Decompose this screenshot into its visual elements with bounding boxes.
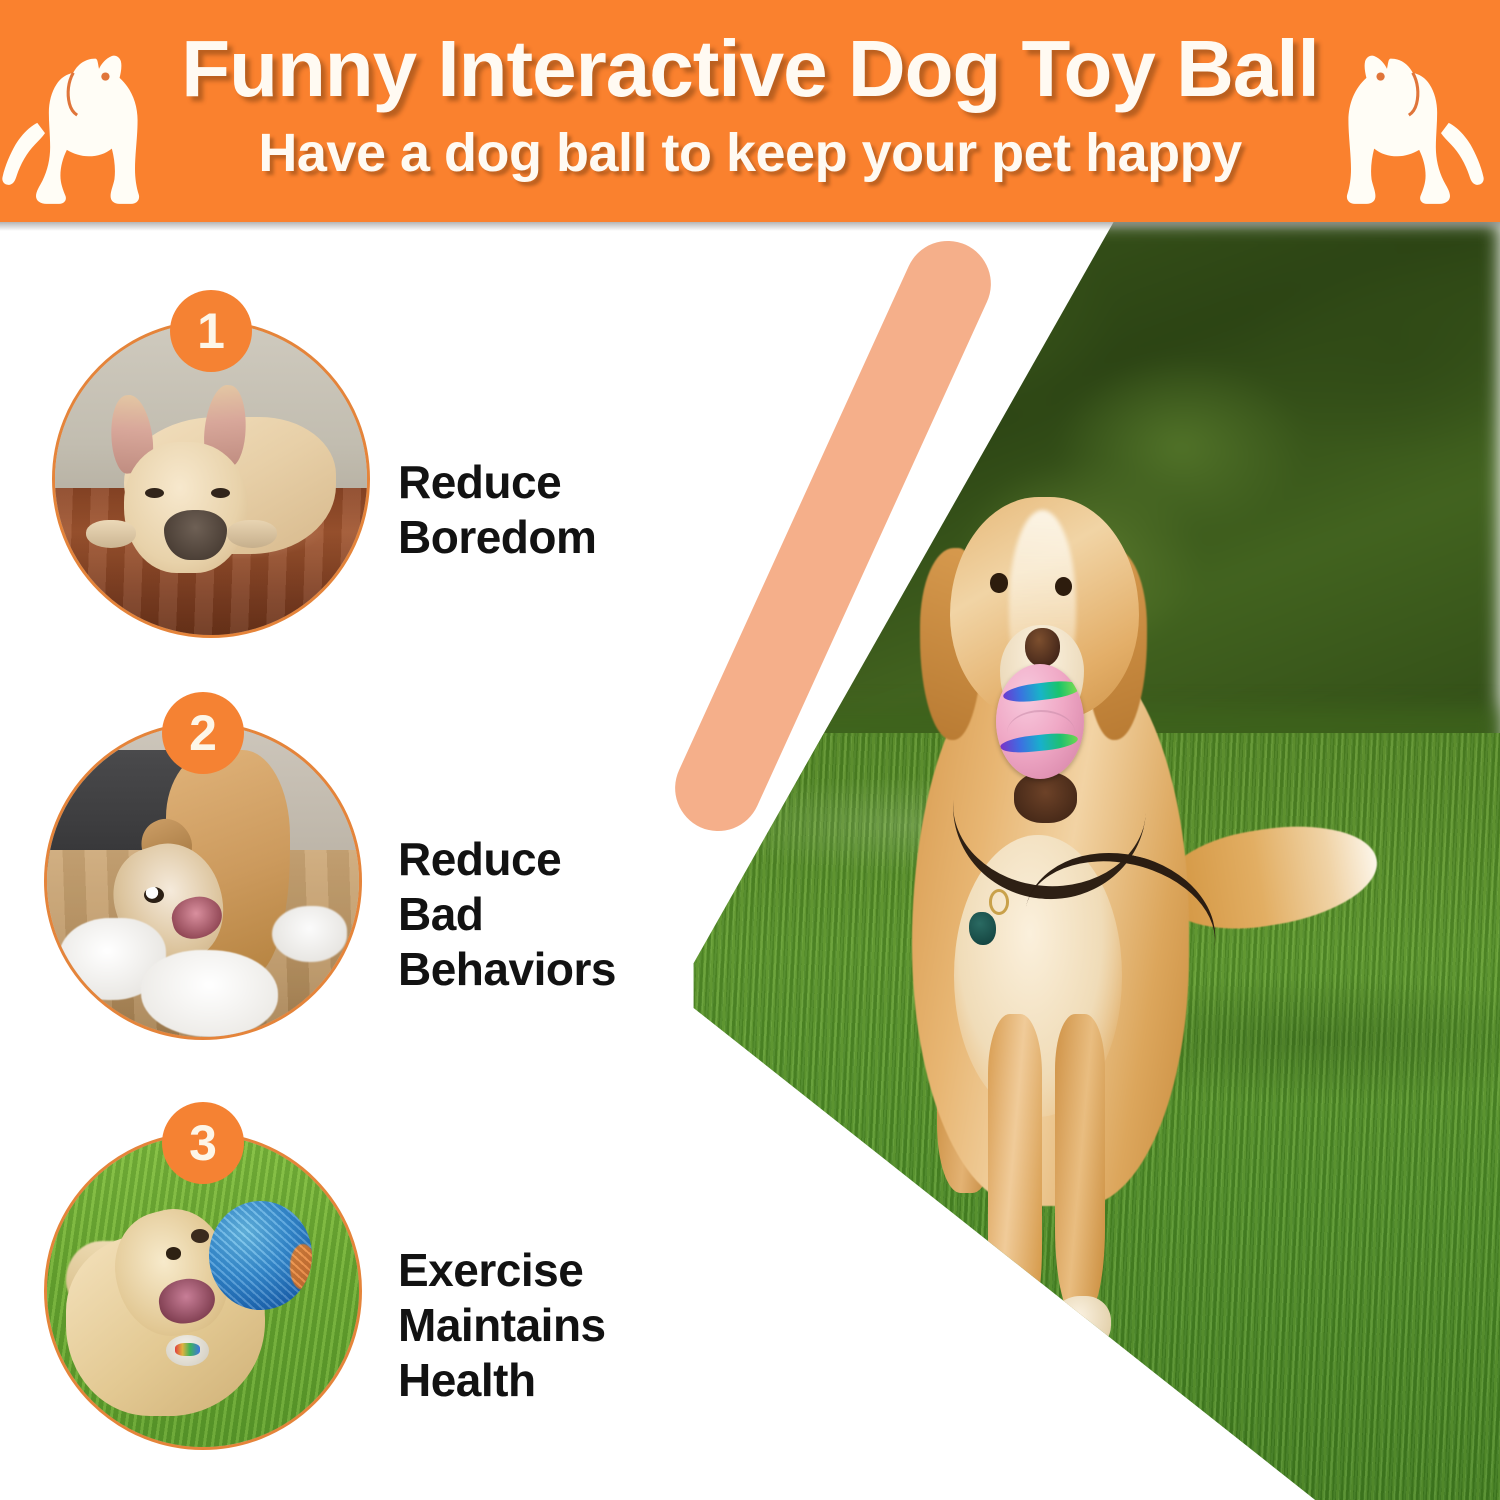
header-banner: Funny Interactive Dog Toy Ball Have a do…	[0, 0, 1500, 222]
hero-dog	[660, 222, 1500, 1500]
dog-silhouette-icon	[1334, 38, 1494, 218]
feature-badge-3: 3	[162, 1102, 244, 1184]
header-shadow	[0, 222, 1500, 231]
feature-label-1: Reduce Boredom	[398, 455, 596, 565]
feature-label-3: Exercise Maintains Health	[398, 1243, 606, 1409]
feature-badge-1: 1	[170, 290, 252, 372]
dog-toy-ball	[996, 664, 1084, 779]
hero-photo	[660, 222, 1500, 1500]
feature-label-2: Reduce Bad Behaviors	[398, 832, 616, 998]
infographic-page: Funny Interactive Dog Toy Ball Have a do…	[0, 0, 1500, 1500]
feature-badge-2: 2	[162, 692, 244, 774]
page-title: Funny Interactive Dog Toy Ball	[0, 26, 1500, 112]
page-subtitle: Have a dog ball to keep your pet happy	[0, 122, 1500, 184]
